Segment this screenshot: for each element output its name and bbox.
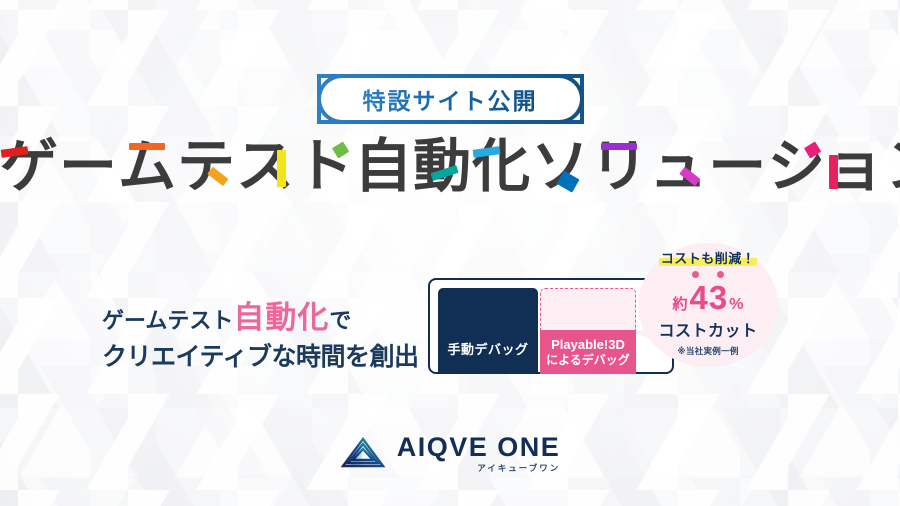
headline-char-accent-11 bbox=[679, 166, 700, 185]
headline-char-accent-5 bbox=[332, 141, 349, 158]
headline-char-accent-4 bbox=[277, 150, 285, 187]
tagline-line1-post: で bbox=[329, 308, 351, 333]
headline-char-accent-0 bbox=[1, 147, 29, 158]
badge-container: 特設サイト公開 bbox=[0, 74, 900, 124]
headline-char-6: 自 bbox=[354, 138, 413, 196]
headline-char-accent-7 bbox=[430, 165, 458, 181]
headline-char-accent-9 bbox=[557, 171, 580, 193]
special-site-badge[interactable]: 特設サイト公開 bbox=[317, 74, 584, 124]
headline-char-5: ト bbox=[295, 138, 354, 196]
cost-cut-percentage: 約 43 % bbox=[638, 281, 778, 314]
cost-cut-highlight-label: コストも削減！ bbox=[659, 248, 758, 267]
tagline-line-1: ゲームテスト自動化で bbox=[102, 296, 422, 340]
headline-char-10: リ bbox=[590, 138, 649, 196]
bar-playable3d-label-line2: によるデバッグ bbox=[546, 353, 630, 367]
cost-cut-footnote: ※当社実例一例 bbox=[638, 345, 778, 357]
dot-right-icon bbox=[717, 271, 724, 278]
logo-kana: アイキューブワン bbox=[477, 464, 560, 473]
cost-cut-callout-content: コストも削減！ 約 43 % コストカット ※当社実例一例 bbox=[638, 248, 778, 357]
headline-char-accent-13 bbox=[804, 141, 821, 158]
page-title: ゲームテスト自動化ソリューション bbox=[0, 138, 900, 196]
bar-manual-debug: 手動デバッグ bbox=[438, 288, 538, 374]
headline-char-4: ス bbox=[236, 138, 295, 196]
tagline-line1-pre: ゲームテスト bbox=[102, 308, 233, 333]
brand-logo: AIQVE ONE アイキューブワン bbox=[0, 434, 900, 473]
aiqve-one-logo-mark-icon bbox=[340, 436, 386, 470]
bar-playable3d-label-line1: Playable!3D bbox=[551, 337, 625, 353]
headline-char-9: ソ bbox=[531, 138, 590, 196]
headline-char-1: ー bbox=[59, 138, 118, 196]
tagline: ゲームテスト自動化で クリエイティブな時間を創出 bbox=[102, 296, 422, 376]
cost-cut-number: 43 bbox=[690, 281, 729, 314]
headline-char-14: ョ bbox=[826, 138, 885, 196]
cost-cut-dots bbox=[638, 271, 778, 278]
badge-label: 特設サイト公開 bbox=[363, 82, 538, 116]
headline-char-12: ー bbox=[708, 138, 767, 196]
bar-manual-debug-label: 手動デバッグ bbox=[447, 339, 528, 358]
bar-saved-cost-region bbox=[540, 288, 636, 330]
headline-char-accent-3 bbox=[207, 166, 228, 185]
headline-char-accent-10 bbox=[601, 143, 638, 150]
cost-cut-label: コストカット bbox=[638, 317, 778, 341]
tagline-line1-highlight: 自動化 bbox=[233, 300, 329, 335]
cost-cut-approx: 約 bbox=[673, 293, 688, 314]
headline-char-0: ゲ bbox=[0, 138, 59, 196]
cost-cut-unit: % bbox=[729, 296, 743, 314]
logo-text-block: AIQVE ONE アイキューブワン bbox=[397, 434, 561, 473]
headline-char-15: ン bbox=[885, 138, 900, 196]
headline-char-7: 動 bbox=[413, 138, 472, 196]
headline-char-8: 化 bbox=[472, 138, 531, 196]
headline-char-2: ム bbox=[118, 138, 177, 196]
slide-canvas: 特設サイト公開 ゲームテスト自動化ソリューション ゲームテスト自動化で クリエイ… bbox=[0, 0, 900, 506]
bar-playable3d-debug: Playable!3D によるデバッグ bbox=[540, 330, 636, 374]
headline-char-accent-2 bbox=[129, 143, 166, 150]
headline-char-13: シ bbox=[767, 138, 826, 196]
headline-char-3: テ bbox=[177, 138, 236, 196]
headline-char-accent-8 bbox=[473, 147, 501, 158]
tagline-line-2: クリエイティブな時間を創出 bbox=[102, 340, 422, 376]
logo-wordmark: AIQVE ONE bbox=[397, 434, 561, 461]
headline-char-11: ュ bbox=[649, 138, 708, 196]
dot-left-icon bbox=[692, 271, 699, 278]
headline-char-accent-14 bbox=[829, 155, 838, 189]
